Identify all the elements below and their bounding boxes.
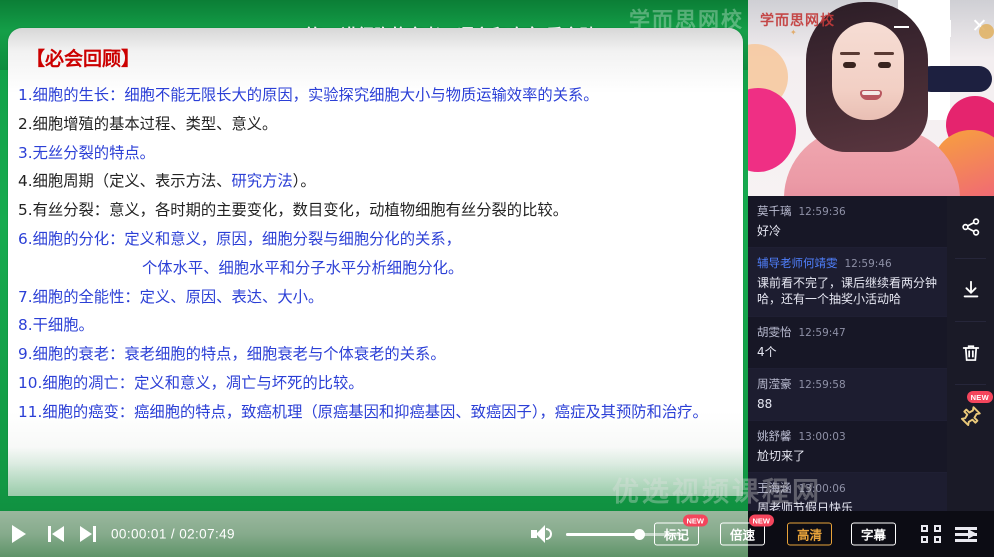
chat-message-text: 尬切来了: [757, 448, 938, 464]
chat-message-time: 13:00:06: [799, 483, 846, 495]
chip-mark-label: 标记: [664, 525, 689, 544]
chat-message-user: 莫千璃: [757, 203, 792, 219]
chat-message-user: 周滢豪: [757, 376, 792, 392]
teacher-teeth: [862, 91, 880, 95]
chat-message-user: 姚舒馨: [757, 428, 792, 444]
review-item: 5.有丝分裂：意义，各时期的主要变化，数目变化，动植物细胞有丝分裂的比较。: [14, 203, 735, 218]
slide-stage: 学而思网校 第16讲细胞的衰老、凋亡和癌变-重突破.flv 知识精讲经典例题达标…: [0, 0, 748, 557]
close-highlight-dot: [979, 24, 994, 39]
download-button[interactable]: [947, 259, 994, 321]
chat-message[interactable]: 莫千璃12:59:36好冷: [748, 196, 947, 248]
volume-knob[interactable]: [634, 529, 645, 540]
chat-message-header: 胡雯怡12:59:47: [757, 324, 938, 340]
action-icon-rail[interactable]: NEW: [947, 196, 994, 520]
chat-message[interactable]: 胡雯怡12:59:474个: [748, 317, 947, 369]
review-item: 1.细胞的生长：细胞不能无限长大的原因，实验探究细胞大小与物质运输效率的关系。: [14, 88, 735, 103]
chip-speed-label: 倍速: [730, 525, 755, 544]
bg-shape-pink: [748, 88, 796, 172]
chat-message-time: 12:59:58: [799, 379, 846, 391]
chip-mark-new-badge: NEW: [683, 515, 709, 527]
volume-button[interactable]: [531, 525, 553, 543]
brow-left: [840, 52, 860, 55]
review-item-list: 1.细胞的生长：细胞不能无限长大的原因，实验探究细胞大小与物质运输效率的关系。2…: [14, 88, 735, 434]
chip-mark-button[interactable]: 标记 NEW: [654, 523, 699, 546]
player-control-bar: 00:00:01 / 02:07:49 标记 NEW 倍速 NEW: [0, 511, 994, 557]
review-item: 个体水平、细胞水平和分子水平分析细胞分化。: [14, 261, 735, 276]
download-icon: [960, 279, 982, 301]
chat-message-time: 12:59:36: [799, 206, 846, 218]
chip-quality-button[interactable]: 高清: [787, 523, 832, 546]
playlist-icon: [955, 526, 977, 542]
chat-message-header: 辅导老师何靖雯12:59:46: [757, 255, 938, 271]
chip-speed-button[interactable]: 倍速 NEW: [720, 523, 765, 546]
webcam-brand-logo: 学而思网校: [760, 10, 835, 30]
next-icon: [76, 526, 96, 542]
brow-right: [874, 52, 894, 55]
section-heading: 【必会回顾】: [26, 44, 140, 71]
chip-subtitle-label: 字幕: [861, 525, 886, 544]
fullscreen-icon: [921, 525, 941, 543]
play-icon: [12, 525, 26, 543]
review-item-segment: 6.细胞的分化：定义和意义，原因，细胞分裂与细胞分化的关系，: [18, 230, 461, 248]
share-button[interactable]: [947, 196, 994, 258]
chat-message[interactable]: 姚舒馨13:00:03尬切来了: [748, 421, 947, 473]
review-item: 3.无丝分裂的特点。: [14, 146, 735, 161]
chat-message-text: 88: [757, 396, 938, 412]
review-item-segment: 9.细胞的衰老：衰老细胞的特点，细胞衰老与个体衰老的关系。: [18, 345, 446, 363]
slide-body: 【必会回顾】 1.细胞的生长：细胞不能无限长大的原因，实验探究细胞大小与物质运输…: [8, 28, 743, 496]
chip-subtitle-button[interactable]: 字幕: [851, 523, 896, 546]
chat-message-time: 13:00:03: [799, 431, 846, 443]
review-item: 2.细胞增殖的基本过程、类型、意义。: [14, 117, 735, 132]
review-item: 4.细胞周期（定义、表示方法、研究方法）。: [14, 174, 735, 189]
review-item-segment: 5.有丝分裂：意义，各时期的主要变化，数目变化，动植物细胞有丝分裂的比较。: [18, 201, 568, 219]
fullscreen-button[interactable]: [921, 525, 941, 543]
eye-right: [878, 62, 891, 68]
chat-message-user: 胡雯怡: [757, 324, 792, 340]
review-item-segment: 个体水平、细胞水平和分子水平分析细胞分化。: [142, 259, 463, 277]
chat-message-time: 12:59:47: [799, 327, 846, 339]
chat-message-text: 课前看不完了，课后继续看两分钟哈，还有一个抽奖小活动哈: [757, 275, 938, 307]
right-column: 学而思网校 ✦ ✕ 莫千璃12:59:36好冷辅导老师何靖雯12:59:46课前…: [748, 0, 994, 557]
chat-message-header: 王海涵13:00:06: [757, 480, 938, 496]
webcam-brand-sub-mark: ✦: [790, 28, 797, 37]
chip-speed-new-badge: NEW: [749, 515, 775, 527]
minimize-icon[interactable]: [893, 18, 910, 35]
share-icon: [960, 216, 982, 238]
chip-quality-label: 高清: [797, 525, 822, 544]
play-button[interactable]: [12, 525, 26, 543]
chat-message-text: 好冷: [757, 223, 938, 239]
delete-button[interactable]: [947, 322, 994, 384]
review-item: 11.细胞的癌变：癌细胞的特点，致癌机理（原癌基因和抑癌基因、致癌因子），癌症及…: [14, 405, 735, 420]
control-bar-items: 00:00:01 / 02:07:49 标记 NEW 倍速 NEW: [0, 511, 994, 557]
review-item-segment: 1.细胞的生长：细胞不能无限长大的原因，实验探究细胞大小与物质运输效率的关系。: [18, 86, 599, 104]
time-display: 00:00:01 / 02:07:49: [111, 527, 235, 542]
review-item-segment: 11.细胞的癌变：癌细胞的特点，致癌机理（原癌基因和抑癌基因、致癌因子），癌症及…: [18, 403, 708, 421]
window-controls[interactable]: ✕: [893, 18, 988, 35]
teacher-webcam-video[interactable]: 学而思网校 ✦ ✕: [748, 0, 994, 196]
chat-message[interactable]: 辅导老师何靖雯12:59:46课前看不完了，课后继续看两分钟哈，还有一个抽奖小活…: [748, 248, 947, 316]
maximize-icon[interactable]: [932, 18, 949, 35]
review-item-segment: 2.细胞增殖的基本过程、类型、意义。: [18, 115, 277, 133]
review-item-segment: 8.干细胞。: [18, 316, 94, 334]
chat-message-header: 姚舒馨13:00:03: [757, 428, 938, 444]
previous-button[interactable]: [48, 526, 68, 542]
next-button[interactable]: [76, 526, 96, 542]
speaker-icon: [531, 525, 553, 543]
pin-new-badge: NEW: [967, 391, 993, 403]
pin-icon: [959, 404, 983, 428]
chat-message-header: 周滢豪12:59:58: [757, 376, 938, 392]
chat-message[interactable]: 周滢豪12:59:5888: [748, 369, 947, 421]
chat-message-header: 莫千璃12:59:36: [757, 203, 938, 219]
video-player-window: 学而思网校 第16讲细胞的衰老、凋亡和癌变-重突破.flv 知识精讲经典例题达标…: [0, 0, 994, 557]
chat-message-text: 4个: [757, 344, 938, 360]
chat-message-user: 王海涵: [757, 480, 792, 496]
eye-left: [843, 62, 856, 68]
review-item: 10.细胞的凋亡：定义和意义，凋亡与坏死的比较。: [14, 376, 735, 391]
review-item-segment: 3.无丝分裂的特点。: [18, 144, 155, 162]
previous-icon: [48, 526, 68, 542]
chat-message-time: 12:59:46: [845, 258, 892, 270]
bg-shape-navy-bar: [918, 66, 992, 92]
review-item: 8.干细胞。: [14, 318, 735, 333]
pin-button[interactable]: NEW: [947, 385, 994, 447]
playlist-toggle-button[interactable]: [955, 526, 977, 542]
review-item: 9.细胞的衰老：衰老细胞的特点，细胞衰老与个体衰老的关系。: [14, 347, 735, 362]
review-item-segment: 研究方法: [231, 172, 292, 190]
review-item: 6.细胞的分化：定义和意义，原因，细胞分裂与细胞分化的关系，: [14, 232, 735, 247]
review-item: 7.细胞的全能性：定义、原因、表达、大小。: [14, 290, 735, 305]
review-item-segment: 7.细胞的全能性：定义、原因、表达、大小。: [18, 288, 323, 306]
review-item-segment: ）。: [293, 172, 316, 190]
teacher-face: [832, 22, 904, 120]
chat-message-list[interactable]: 莫千璃12:59:36好冷辅导老师何靖雯12:59:46课前看不完了，课后继续看…: [748, 196, 947, 520]
trash-icon: [960, 342, 982, 364]
review-item-segment: 10.细胞的凋亡：定义和意义，凋亡与坏死的比较。: [18, 374, 364, 392]
chat-message-user: 辅导老师何靖雯: [757, 255, 838, 271]
volume-fill: [566, 533, 639, 536]
review-item-segment: 4.细胞周期（定义、表示方法、: [18, 172, 231, 190]
